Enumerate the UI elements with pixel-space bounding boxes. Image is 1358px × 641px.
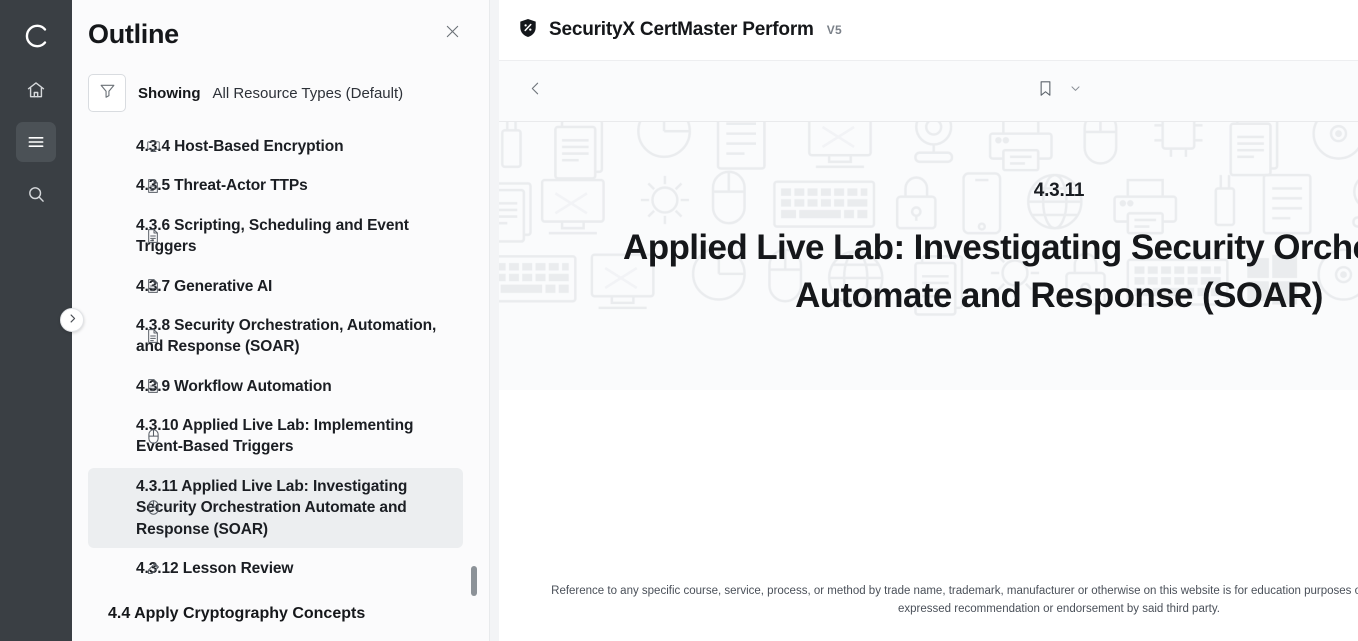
- sidebar-item-outline[interactable]: [16, 122, 56, 162]
- outline-scrollbar-track[interactable]: [477, 128, 483, 641]
- showing-value[interactable]: All Resource Types (Default): [213, 85, 404, 102]
- sidebar-collapse-handle[interactable]: [60, 308, 84, 332]
- search-icon: [26, 184, 46, 204]
- list-item[interactable]: 4.3.8 Security Orchestration, Automation…: [88, 307, 463, 366]
- lesson-banner: 4.3.11 Applied Live Lab: Investigating S…: [499, 122, 1358, 390]
- close-icon: [443, 22, 462, 46]
- list-item-selected[interactable]: 4.3.11 Applied Live Lab: Investigating S…: [88, 468, 463, 548]
- list-item[interactable]: 4.3.12 Lesson Review: [88, 550, 463, 587]
- app-title: SecurityX CertMaster Perform: [549, 19, 814, 41]
- lesson-title-line1: Applied Live Lab: Investigating Security…: [499, 224, 1358, 272]
- outline-scrollbar-thumb[interactable]: [471, 566, 477, 596]
- showing-label: Showing: [138, 85, 201, 102]
- filter-button[interactable]: [88, 74, 126, 112]
- shield-icon: [517, 17, 539, 44]
- brand: SecurityX CertMaster Perform V5: [517, 17, 1358, 44]
- bookmark-dropdown-button[interactable]: [1069, 82, 1082, 100]
- content-wrapper: SecurityX CertMaster Perform V5: [490, 0, 1358, 641]
- close-outline-button[interactable]: [437, 19, 467, 49]
- list-item-label: 4.3.4 Host-Based Encryption: [136, 136, 343, 157]
- list-item[interactable]: 4.3.7 Generative AI: [88, 268, 463, 305]
- list-item-label: 4.3.11 Applied Live Lab: Investigating S…: [136, 476, 451, 540]
- sidebar-item-home[interactable]: [16, 70, 56, 110]
- bookmark-button[interactable]: [1036, 79, 1055, 103]
- outline-list: 4.3.4 Host-Based Encryption 4.3.5 Threat…: [72, 128, 489, 641]
- lesson-number: 4.3.11: [1034, 180, 1085, 202]
- document-icon: [144, 377, 162, 395]
- chevron-down-icon: [1069, 82, 1082, 100]
- list-item[interactable]: 4.3.5 Threat-Actor TTPs: [88, 167, 463, 204]
- chevron-left-icon: [527, 80, 544, 102]
- outline-section-header[interactable]: 4.4 Apply Cryptography Concepts: [88, 589, 463, 631]
- list-item-label: 4.3.10 Applied Live Lab: Implementing Ev…: [136, 415, 451, 458]
- app-header: SecurityX CertMaster Perform V5: [499, 0, 1358, 60]
- menu-icon: [26, 132, 46, 152]
- pencil-icon: [144, 560, 162, 578]
- lesson-title: Applied Live Lab: Investigating Security…: [499, 224, 1358, 319]
- previous-lesson-button[interactable]: [519, 75, 551, 107]
- list-item[interactable]: 4.3.4 Host-Based Encryption: [88, 128, 463, 165]
- lesson-nav-bar: [499, 60, 1358, 122]
- lesson-title-line2: Automate and Response (SOAR): [499, 272, 1358, 320]
- app-root: Outline Showing All Resource Types (Defa…: [0, 0, 1358, 641]
- disclaimer-text: Reference to any specific course, servic…: [499, 583, 1358, 619]
- sidebar-item-search[interactable]: [16, 174, 56, 214]
- bookmark-group: [499, 79, 1358, 103]
- app-version: V5: [827, 23, 842, 37]
- mouse-icon: [144, 427, 162, 445]
- c-logo-icon[interactable]: [14, 14, 58, 58]
- filter-row: Showing All Resource Types (Default): [72, 68, 489, 128]
- document-icon: [144, 277, 162, 295]
- document-icon: [144, 177, 162, 195]
- list-item-label: 4.3.8 Security Orchestration, Automation…: [136, 315, 451, 358]
- outline-header: Outline: [72, 0, 489, 68]
- list-item[interactable]: 4.3.10 Applied Live Lab: Implementing Ev…: [88, 407, 463, 466]
- list-item[interactable]: 4.3.6 Scripting, Scheduling and Event Tr…: [88, 207, 463, 266]
- outline-panel: Outline Showing All Resource Types (Defa…: [72, 0, 490, 641]
- monitor-icon: [144, 138, 162, 156]
- home-icon: [26, 80, 46, 100]
- lesson-body: Reference to any specific course, servic…: [499, 390, 1358, 641]
- bookmark-icon: [1036, 79, 1055, 103]
- mouse-icon: [144, 499, 162, 517]
- filter-icon: [98, 81, 117, 105]
- list-item-label: 4.3.9 Workflow Automation: [136, 376, 332, 397]
- content-card: SecurityX CertMaster Perform V5: [499, 0, 1358, 641]
- chevron-right-icon: [67, 311, 78, 329]
- document-icon: [144, 327, 162, 345]
- page-title: Outline: [88, 19, 437, 50]
- list-item-label: 4.3.6 Scripting, Scheduling and Event Tr…: [136, 215, 451, 258]
- document-icon: [144, 227, 162, 245]
- list-item[interactable]: 4.3.9 Workflow Automation: [88, 368, 463, 405]
